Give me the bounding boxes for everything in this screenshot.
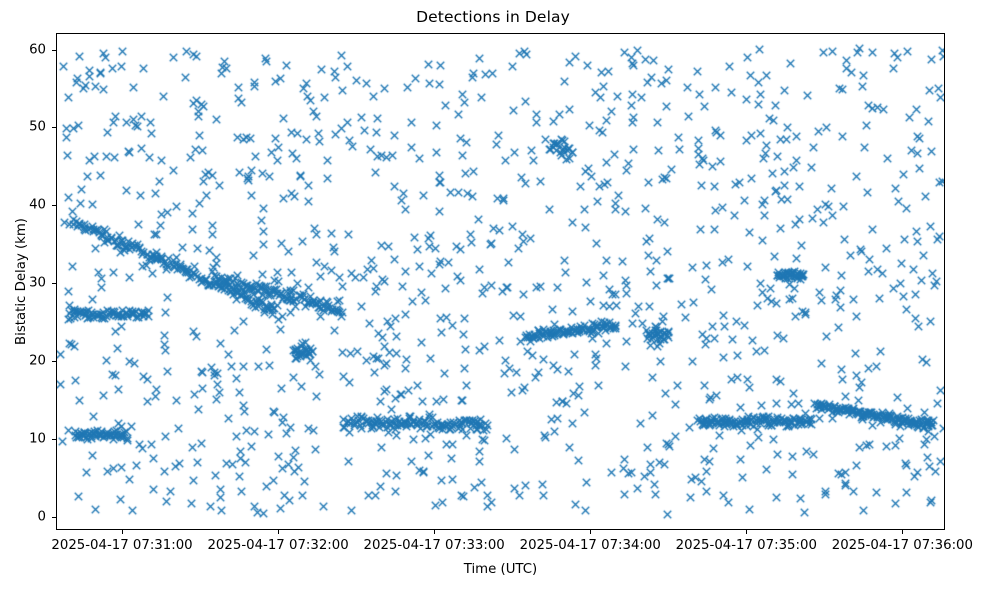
x-tick-label: 2025-04-17 07:31:00 (51, 538, 192, 553)
x-tick-label: 2025-04-17 07:32:00 (207, 538, 348, 553)
x-tick-label: 2025-04-17 07:36:00 (832, 538, 973, 553)
x-tick-label: 2025-04-17 07:33:00 (364, 538, 505, 553)
x-tick-mark (590, 530, 591, 534)
matplotlib-figure: Detections in Delay Bistatic Delay (km) … (0, 0, 986, 590)
x-tick-label: 2025-04-17 07:34:00 (520, 538, 661, 553)
scatter-plot-canvas (57, 34, 944, 529)
x-axis-label: Time (UTC) (56, 562, 945, 577)
x-tick-label: 2025-04-17 07:35:00 (676, 538, 817, 553)
x-tick-mark (902, 530, 903, 534)
x-tick-mark (434, 530, 435, 534)
x-tick-mark (746, 530, 747, 534)
plot-area (56, 33, 945, 530)
page-title: Detections in Delay (0, 8, 986, 26)
x-tick-mark-group (56, 530, 945, 536)
x-tick-mark (122, 530, 123, 534)
x-tick-label-group: 2025-04-17 07:31:002025-04-17 07:32:0020… (0, 538, 986, 558)
y-tick-mark-group (0, 33, 56, 530)
x-tick-mark (278, 530, 279, 534)
